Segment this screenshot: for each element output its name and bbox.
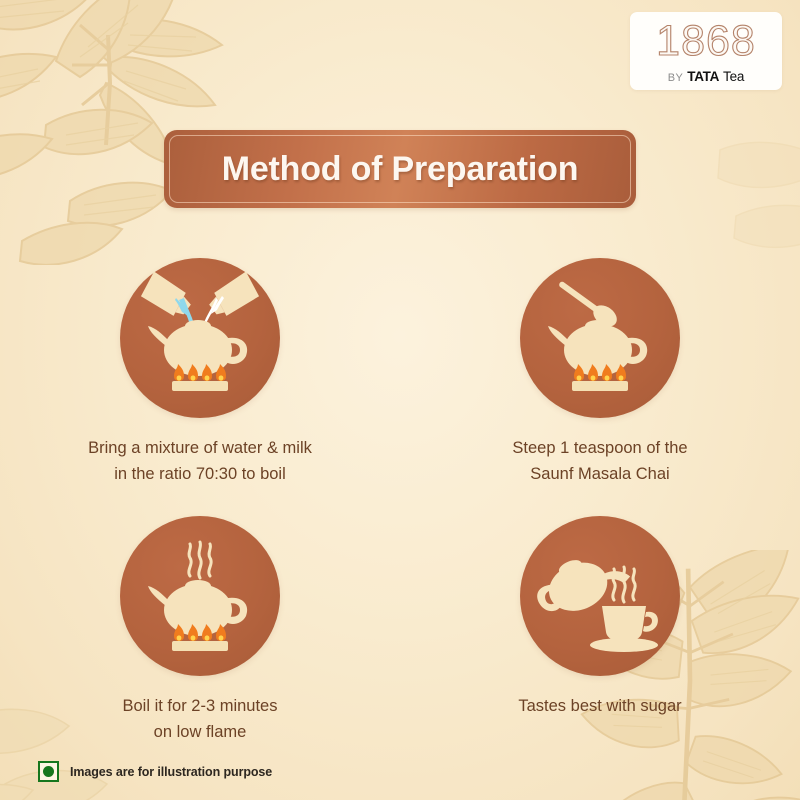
teapot-pouring-into-cup-icon: [532, 528, 668, 664]
step-1-caption-line-2: in the ratio 70:30 to boil: [88, 461, 312, 487]
step-item-4: Tastes best with sugar: [400, 516, 800, 746]
step-3-caption-line-1: Boil it for 2-3 minutes: [123, 693, 278, 719]
green-vegetarian-mark-icon: [38, 761, 59, 782]
step-2-caption-line-1: Steep 1 teaspoon of the: [512, 435, 687, 461]
poster-canvas: 1868 BY TATA Tea Method of Preparation: [0, 0, 800, 800]
logo-by-text: BY: [668, 72, 683, 84]
step-2-caption-line-2: Saunf Masala Chai: [512, 461, 687, 487]
brand-logo-card: 1868 BY TATA Tea: [630, 12, 782, 90]
page-title: Method of Preparation: [222, 150, 579, 189]
logo-tea-text: Tea: [723, 69, 744, 84]
step-4-caption: Tastes best with sugar: [518, 693, 681, 719]
step-1-icon-circle: [120, 258, 280, 418]
step-3-caption-line-2: on low flame: [123, 719, 278, 745]
step-4-caption-line-1: Tastes best with sugar: [518, 693, 681, 719]
step-1-caption: Bring a mixture of water & milk in the r…: [88, 435, 312, 488]
logo-subtitle: BY TATA Tea: [668, 69, 744, 84]
teaspoon-over-teapot-on-flame-icon: [532, 270, 668, 406]
footer-disclaimer: Images are for illustration purpose: [38, 761, 272, 782]
steam-icon: [189, 542, 211, 578]
step-4-icon-circle: [520, 516, 680, 676]
veg-dot: [43, 766, 54, 777]
step-2-icon-circle: [520, 258, 680, 418]
logo-tata-text: TATA: [687, 69, 719, 84]
step-item-2: Steep 1 teaspoon of the Saunf Masala Cha…: [400, 258, 800, 488]
step-2-caption: Steep 1 teaspoon of the Saunf Masala Cha…: [512, 435, 687, 488]
steps-grid: Bring a mixture of water & milk in the r…: [0, 258, 800, 746]
step-item-3: Boil it for 2-3 minutes on low flame: [0, 516, 400, 746]
teapot-pouring-water-and-milk-on-flame-icon: [132, 270, 268, 406]
footer-disclaimer-text: Images are for illustration purpose: [70, 765, 272, 779]
step-item-1: Bring a mixture of water & milk in the r…: [0, 258, 400, 488]
step-3-caption: Boil it for 2-3 minutes on low flame: [123, 693, 278, 746]
logo-number: 1868: [656, 20, 756, 63]
steaming-teapot-on-flame-icon: [132, 528, 268, 664]
step-3-icon-circle: [120, 516, 280, 676]
title-banner: Method of Preparation: [164, 130, 636, 208]
step-1-caption-line-1: Bring a mixture of water & milk: [88, 435, 312, 461]
